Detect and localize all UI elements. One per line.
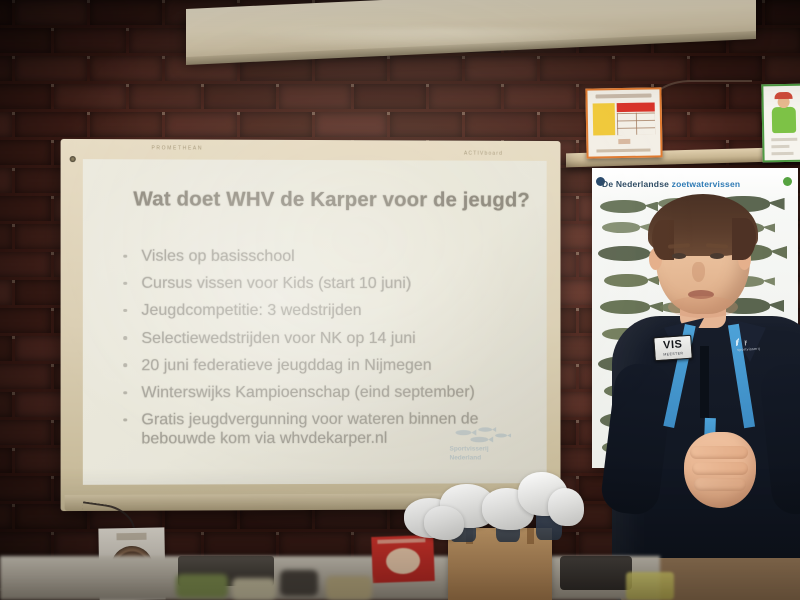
presenter-person: VIS MEESTER sportvisserij <box>616 196 800 600</box>
presenter-nose <box>692 262 705 282</box>
fish-poster-title: De Nederlandse zoetwatervissen <box>602 179 790 189</box>
poster-yellow-block <box>593 103 616 135</box>
poster-figure-body <box>772 107 796 133</box>
poster-text-line <box>772 152 794 155</box>
presenter-shirt-placket <box>700 346 709 418</box>
presenter-eye <box>710 253 724 259</box>
plastic-bag <box>548 488 584 526</box>
bullet-text: Cursus vissen voor Kids (start 10 juni) <box>141 275 411 292</box>
bullet-text: Winterswijks Kampioenschap (eind septemb… <box>141 384 474 402</box>
board-brand-right: ACTIVboard <box>464 151 503 157</box>
slide-bullet-item: Selectiewedstrijden voor NK op 14 juni <box>115 330 533 349</box>
poster-footer-bar <box>596 149 650 153</box>
vis-badge-title: VIS <box>663 339 683 351</box>
board-screw-icon <box>70 156 76 162</box>
poster-table-grid <box>617 112 655 135</box>
slide-bullet-item: Jeugdcompetitie: 3 wedstrijden <box>115 302 533 321</box>
bullet-text: Visles op basisschool <box>141 248 294 265</box>
sponsor-logo-text: Sportvisserij Nederland <box>450 444 489 464</box>
vis-badge: VIS MEESTER <box>653 335 693 362</box>
bullet-dot-icon <box>123 364 127 368</box>
photo-scene: De Nederlandse zoetwatervissen <box>0 0 800 600</box>
bullet-text: Selectiewedstrijden voor NK op 14 juni <box>141 330 415 347</box>
plastic-bag-cluster <box>404 470 580 542</box>
slide-bullet-item: Visles op basisschool <box>115 248 533 267</box>
shirt-logo-mark-icon <box>735 333 770 346</box>
presentation-slide[interactable]: Wat doet WHV de Karper voor de jeugd? Vi… <box>83 159 547 485</box>
clutter-item <box>280 570 318 596</box>
wall-poster-chart <box>585 87 662 158</box>
poster-text-line <box>771 138 797 141</box>
speaker-label <box>116 533 146 541</box>
board-brand-left: PROMETHEAN <box>151 145 203 151</box>
wall-poster-green <box>761 84 800 163</box>
plastic-bag <box>424 506 464 540</box>
bullet-text: Gratis jeugdvergunning voor wateren binn… <box>141 411 478 448</box>
poster-text-line <box>771 145 789 148</box>
bullet-dot-icon <box>123 336 127 340</box>
presenter-eye <box>672 253 686 259</box>
presenter-chin <box>668 296 738 318</box>
clutter-item <box>326 576 372 600</box>
presenter-hair <box>648 194 758 256</box>
slide-bullet-item: Winterswijks Kampioenschap (eind septemb… <box>115 384 533 403</box>
ceiling-light-glow <box>230 28 650 52</box>
poster-red-header <box>617 102 655 112</box>
poster-figure-hat <box>774 92 792 99</box>
foreground-clutter <box>176 560 416 600</box>
clutter-item <box>176 574 228 598</box>
vis-badge-subtitle: MEESTER <box>663 351 683 356</box>
bullet-dot-icon <box>123 391 127 395</box>
presenter-finger <box>690 446 748 459</box>
shirt-logo-text: sportvisserij <box>737 347 760 352</box>
bullet-dot-icon <box>123 309 127 313</box>
poster-mid-block <box>618 139 630 144</box>
foreground-yellow-object <box>626 572 674 600</box>
clutter-item <box>232 578 276 600</box>
shirt-chest-logo: sportvisserij <box>733 333 776 357</box>
fish-poster-title-part2: zoetwatervissen <box>672 179 741 189</box>
slide-bullet-item: 20 juni federatieve jeugddag in Nijmegen <box>115 357 533 376</box>
poster-title-bar <box>595 94 651 99</box>
board-projection-surface[interactable]: Wat doet WHV de Karper voor de jeugd? Vi… <box>83 159 547 485</box>
slide-sponsor-logo: Sportvisserij Nederland <box>450 425 525 469</box>
sponsor-line-1: Sportvisserij <box>450 445 489 452</box>
sponsor-line-2: Nederland <box>450 455 482 462</box>
presenter-finger <box>692 462 748 475</box>
bullet-text: 20 juni federatieve jeugddag in Nijmegen <box>141 357 431 374</box>
fish-poster-title-part1: De Nederlandse <box>602 179 672 189</box>
presenter-finger <box>694 478 746 491</box>
slide-title: Wat doet WHV de Karper voor de jeugd? <box>133 187 527 212</box>
wall-cable <box>650 80 752 142</box>
slide-bullet-item: Cursus vissen voor Kids (start 10 juni) <box>115 275 533 294</box>
bullet-text: Jeugdcompetitie: 3 wedstrijden <box>141 302 361 319</box>
bullet-dot-icon <box>123 418 127 422</box>
foreground-tray <box>560 556 632 590</box>
interactive-whiteboard[interactable]: PROMETHEAN ACTIVboard Wat doet WHV de Ka… <box>61 139 561 511</box>
bullet-dot-icon <box>123 254 127 258</box>
bullet-dot-icon <box>123 282 127 286</box>
